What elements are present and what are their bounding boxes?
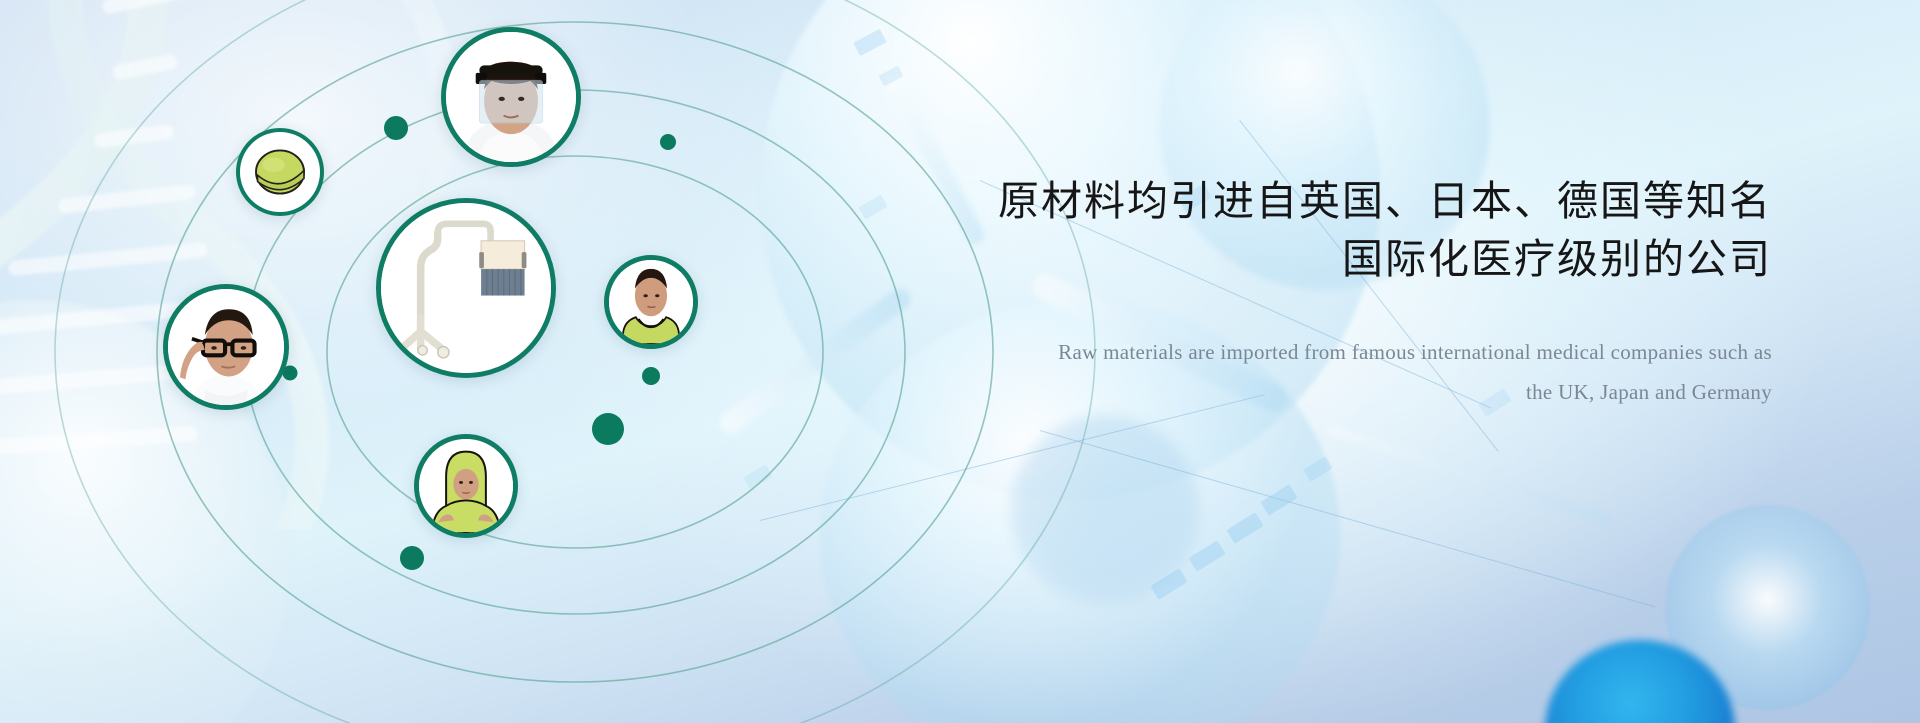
lead-glasses-image xyxy=(168,289,284,405)
radiation-protection-hood-image xyxy=(419,439,513,533)
bubble-thyroid-collar-apron[interactable] xyxy=(604,255,698,349)
headline-line-1: 原材料均引进自英国、日本、德国等知名 xyxy=(998,178,1772,224)
promo-banner: 原材料均引进自英国、日本、德国等知名 国际化医疗级别的公司 Raw materi… xyxy=(0,0,1920,723)
bubble-x-ray-protective-cap[interactable] xyxy=(236,128,324,216)
banner-copy: 原材料均引进自英国、日本、德国等知名 国际化医疗级别的公司 Raw materi… xyxy=(992,172,1772,412)
headline-line-2: 国际化医疗级别的公司 xyxy=(992,230,1772,288)
bubble-lead-glasses[interactable] xyxy=(163,284,289,410)
mobile-x-ray-barrier-shield-image xyxy=(381,203,551,373)
lead-face-shield-headset-image xyxy=(446,32,576,162)
bubble-mobile-x-ray-barrier-shield[interactable] xyxy=(376,198,556,378)
thyroid-collar-apron-image xyxy=(609,260,693,344)
subheadline: Raw materials are imported from famous i… xyxy=(992,332,1772,412)
x-ray-protective-cap-image xyxy=(240,132,320,212)
subheadline-line-2: the UK, Japan and Germany xyxy=(992,372,1772,412)
bubble-lead-face-shield-headset[interactable] xyxy=(441,27,581,167)
bubble-radiation-protection-hood[interactable] xyxy=(414,434,518,538)
headline: 原材料均引进自英国、日本、德国等知名 国际化医疗级别的公司 xyxy=(992,172,1772,288)
subheadline-line-1: Raw materials are imported from famous i… xyxy=(1058,340,1772,364)
